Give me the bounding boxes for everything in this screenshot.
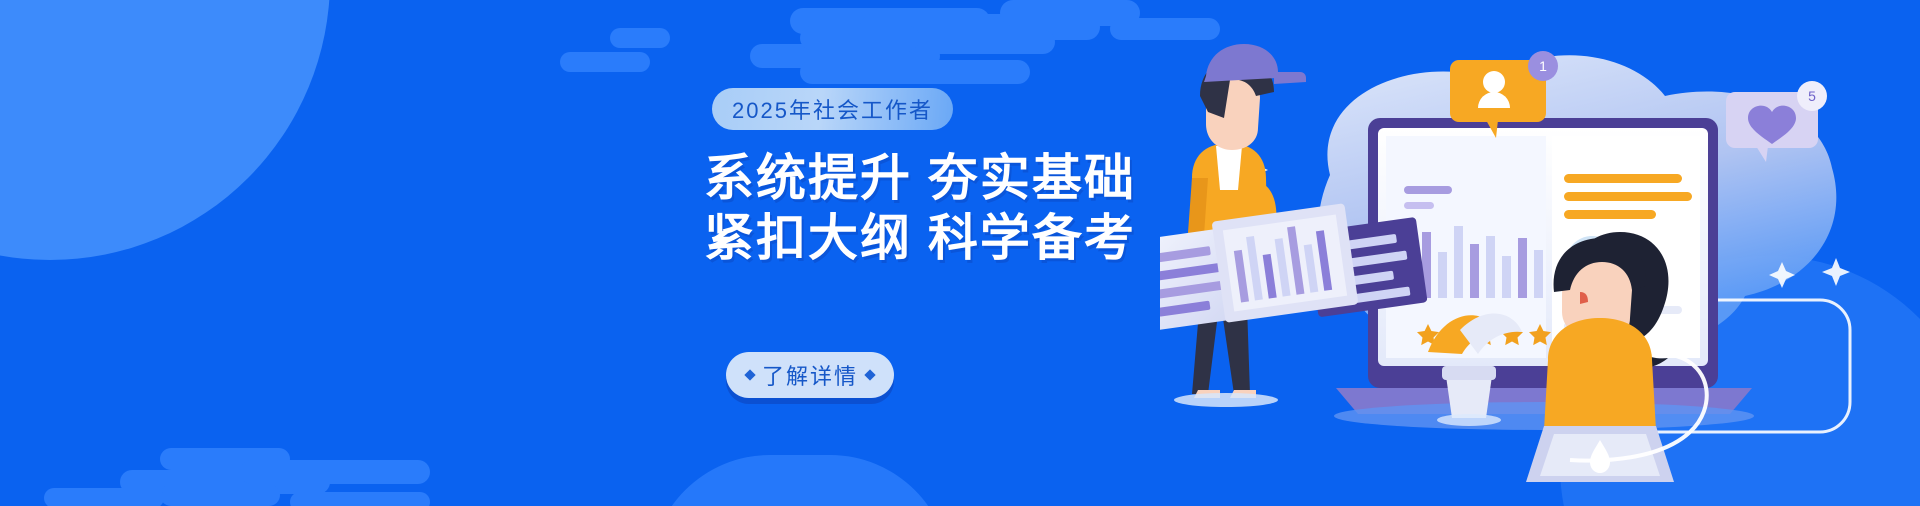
course-year-tag: 2025年社会工作者	[712, 88, 953, 130]
headline-block: 系统提升 夯实基础 紧扣大纲 科学备考	[704, 148, 1124, 268]
diamond-icon	[864, 369, 875, 380]
hero-illustration: 1 5	[1160, 0, 1920, 506]
course-year-tag-label: 2025年社会工作者	[732, 93, 933, 125]
user-badge-count: 1	[1539, 58, 1547, 74]
headline-line-1: 系统提升 夯实基础	[704, 148, 1124, 208]
sparkle-icon	[1822, 258, 1850, 286]
promo-banner: 2025年社会工作者 系统提升 夯实基础 紧扣大纲 科学备考 了解详情	[0, 0, 1920, 506]
like-badge-count: 5	[1808, 88, 1816, 104]
chart-board-front	[1212, 203, 1359, 323]
banner-content: 2025年社会工作者 系统提升 夯实基础 紧扣大纲 科学备考 了解详情	[0, 0, 1100, 506]
diamond-icon	[744, 369, 755, 380]
learn-more-button[interactable]: 了解详情	[726, 352, 894, 398]
headline-line-2: 紧扣大纲 科学备考	[704, 208, 1124, 268]
learn-more-button-label: 了解详情	[762, 359, 858, 391]
